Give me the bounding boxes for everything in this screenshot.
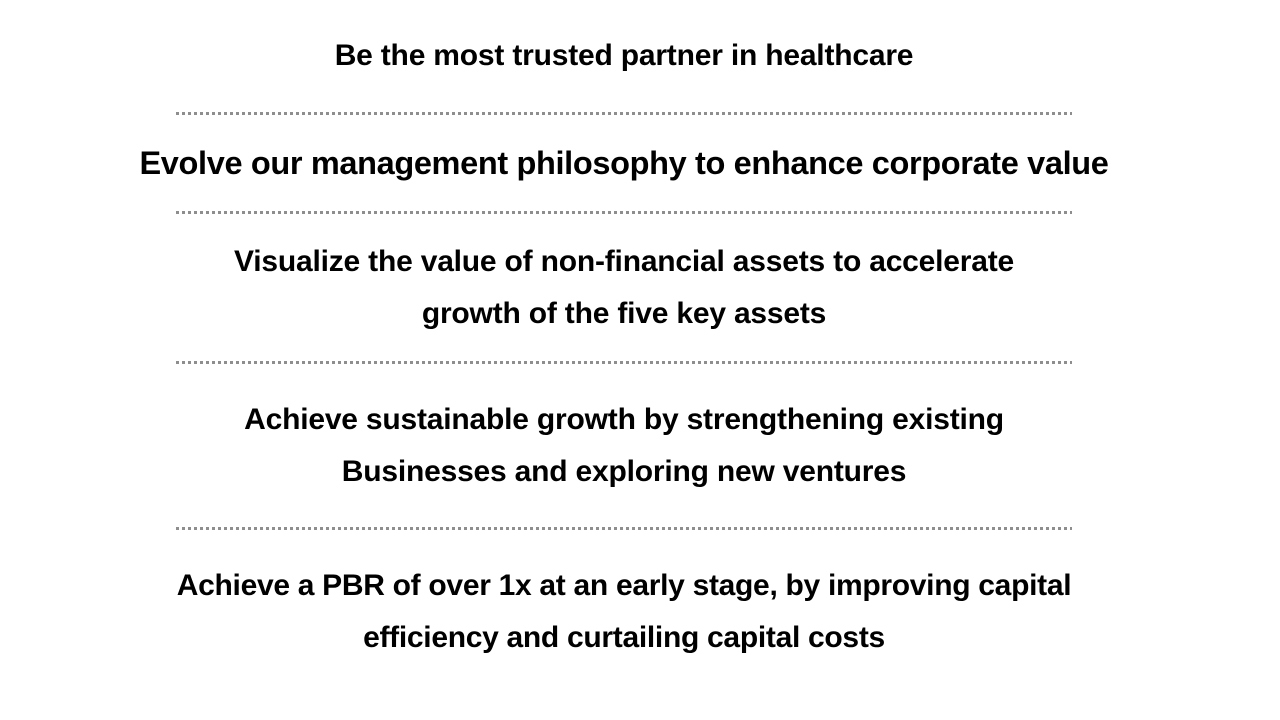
statement-line: Visualize the value of non-financial ass… <box>234 236 1014 288</box>
statement-line: Be the most trusted partner in healthcar… <box>335 39 914 73</box>
statement-stack: Be the most trusted partner in healthcar… <box>176 0 1072 720</box>
statement-line: Achieve a PBR of over 1x at an early sta… <box>177 560 1071 612</box>
statement-line: Achieve sustainable growth by strengthen… <box>244 394 1004 446</box>
statement-block-non-financial-assets: Visualize the value of non-financial ass… <box>176 214 1072 361</box>
statement-line: Businesses and exploring new ventures <box>342 446 906 498</box>
statement-block-vision: Be the most trusted partner in healthcar… <box>176 0 1072 112</box>
statement-block-sustainable-growth: Achieve sustainable growth by strengthen… <box>176 364 1072 527</box>
statement-line: Evolve our management philosophy to enha… <box>139 145 1108 181</box>
statement-block-capital-efficiency: Achieve a PBR of over 1x at an early sta… <box>176 530 1072 693</box>
statement-line: efficiency and curtailing capital costs <box>363 612 885 664</box>
statement-block-philosophy: Evolve our management philosophy to enha… <box>176 115 1072 211</box>
slide-canvas: Be the most trusted partner in healthcar… <box>0 0 1280 720</box>
statement-line: growth of the five key assets <box>422 288 826 340</box>
